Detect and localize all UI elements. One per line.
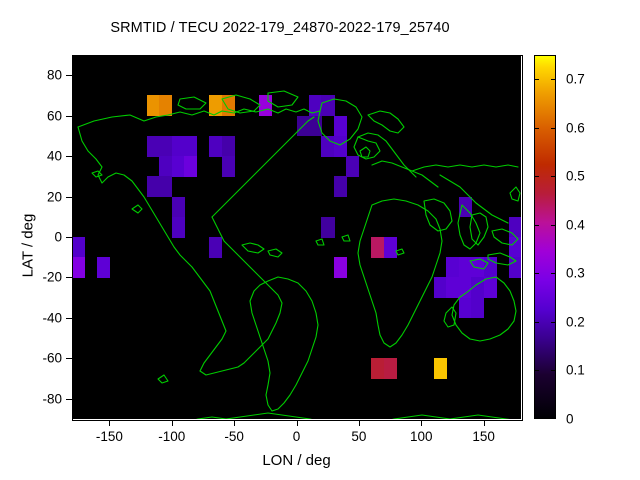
x-tick-mark — [297, 420, 298, 426]
y-tick-mark — [66, 358, 72, 359]
colorbar-tick-mark — [534, 273, 539, 274]
colorbar-tick-label: 0.5 — [566, 169, 585, 184]
y-tick-label: 0 — [10, 230, 62, 245]
x-tick-mark — [172, 420, 173, 426]
x-tick-label: 50 — [351, 429, 366, 444]
y-tick-label: -40 — [10, 310, 62, 325]
map-plot-area[interactable] — [72, 55, 521, 419]
colorbar-tick-mark — [534, 225, 539, 226]
colorbar-tick-mark — [551, 128, 556, 129]
coastline-overlay — [72, 55, 521, 419]
colorbar-tick-mark — [551, 225, 556, 226]
colorbar-tick-label: 0.7 — [566, 72, 585, 87]
y-tick-label: -60 — [10, 351, 62, 366]
colorbar-tick-mark — [534, 176, 539, 177]
y-tick-mark — [66, 116, 72, 117]
y-tick-mark — [66, 277, 72, 278]
colorbar-tick-label: 0 — [566, 412, 574, 427]
colorbar[interactable] — [534, 55, 556, 419]
y-tick-mark — [66, 237, 72, 238]
x-axis-label: LON / deg — [72, 452, 521, 469]
colorbar-tick-mark — [551, 370, 556, 371]
y-tick-mark — [66, 197, 72, 198]
plot-figure: SRMTID / TECU 2022-179_24870-2022-179_25… — [0, 0, 640, 480]
y-tick-mark — [66, 75, 72, 76]
colorbar-gradient — [534, 55, 556, 419]
x-tick-mark — [484, 420, 485, 426]
y-tick-label: -20 — [10, 270, 62, 285]
colorbar-tick-mark — [534, 322, 539, 323]
y-tick-mark — [66, 156, 72, 157]
y-tick-label: -80 — [10, 391, 62, 406]
x-tick-label: 150 — [472, 429, 495, 444]
colorbar-tick-label: 0.6 — [566, 120, 585, 135]
x-tick-mark — [421, 420, 422, 426]
colorbar-tick-mark — [534, 370, 539, 371]
y-tick-label: 20 — [10, 189, 62, 204]
page-title: SRMTID / TECU 2022-179_24870-2022-179_25… — [0, 20, 560, 36]
colorbar-tick-label: 0.1 — [566, 363, 585, 378]
colorbar-tick-mark — [534, 128, 539, 129]
x-tick-label: -150 — [96, 429, 123, 444]
colorbar-tick-mark — [551, 322, 556, 323]
x-tick-label: -100 — [158, 429, 185, 444]
colorbar-tick-mark — [551, 273, 556, 274]
colorbar-tick-label: 0.3 — [566, 266, 585, 281]
y-tick-label: 80 — [10, 68, 62, 83]
x-tick-label: 100 — [410, 429, 433, 444]
y-tick-mark — [66, 399, 72, 400]
colorbar-tick-mark — [551, 176, 556, 177]
x-tick-mark — [234, 420, 235, 426]
colorbar-tick-label: 0.4 — [566, 217, 585, 232]
y-tick-mark — [66, 318, 72, 319]
x-tick-label: 0 — [293, 429, 301, 444]
y-tick-label: 60 — [10, 108, 62, 123]
colorbar-tick-mark — [551, 79, 556, 80]
y-tick-label: 40 — [10, 149, 62, 164]
x-tick-mark — [359, 420, 360, 426]
colorbar-tick-mark — [534, 79, 539, 80]
x-tick-mark — [109, 420, 110, 426]
x-tick-label: -50 — [224, 429, 244, 444]
colorbar-tick-label: 0.2 — [566, 314, 585, 329]
